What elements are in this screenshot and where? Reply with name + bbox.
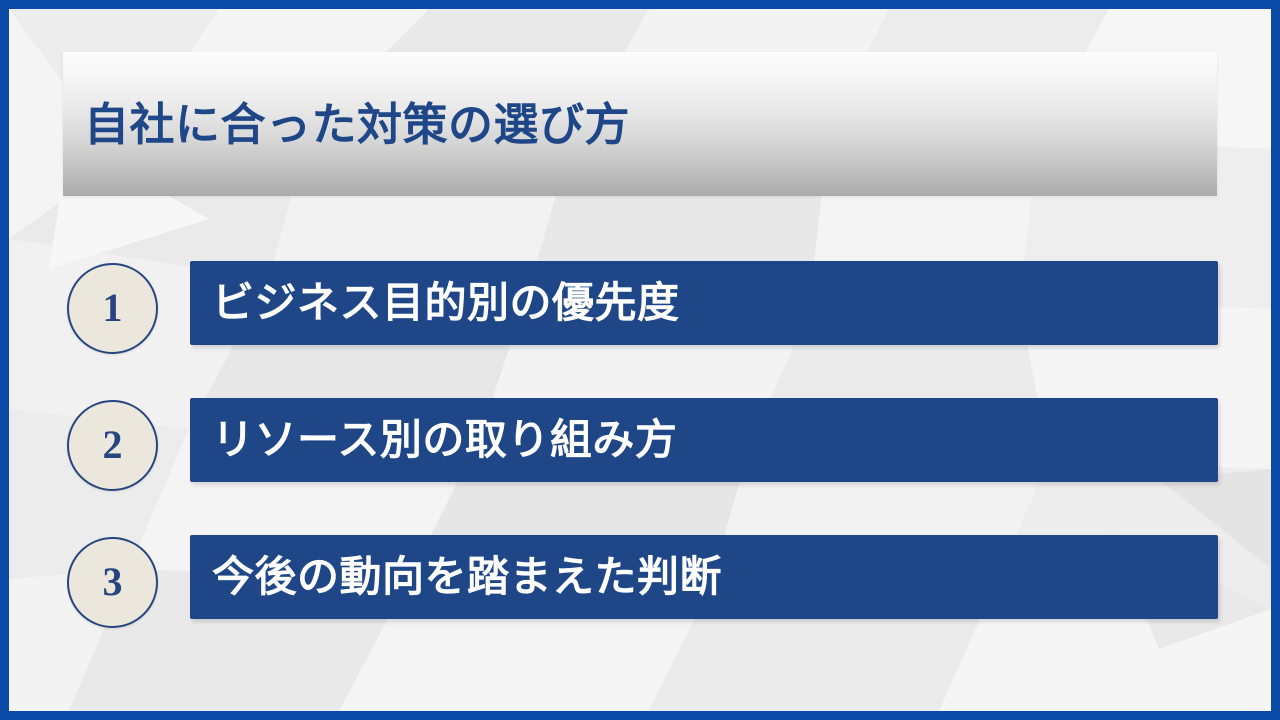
item-number-badge: 3 xyxy=(67,537,158,628)
item-label: リソース別の取り組み方 xyxy=(212,419,677,461)
list-item[interactable]: 3 今後の動向を踏まえた判断 xyxy=(9,526,1271,621)
page-title: 自社に合った対策の選び方 xyxy=(84,102,630,147)
item-number-label: 2 xyxy=(103,425,123,467)
item-number-label: 3 xyxy=(103,562,123,604)
item-number-label: 1 xyxy=(103,288,123,330)
item-label-bar[interactable]: ビジネス目的別の優先度 xyxy=(190,261,1218,345)
item-label: ビジネス目的別の優先度 xyxy=(212,282,680,324)
list-item[interactable]: 1 ビジネス目的別の優先度 xyxy=(9,252,1271,347)
slide-title-bar: 自社に合った対策の選び方 xyxy=(63,52,1217,196)
list-item[interactable]: 2 リソース別の取り組み方 xyxy=(9,389,1271,484)
item-number-badge: 1 xyxy=(67,263,158,354)
item-label-bar[interactable]: リソース別の取り組み方 xyxy=(190,398,1218,482)
item-number-badge: 2 xyxy=(67,400,158,491)
presentation-slide: 自社に合った対策の選び方 1 ビジネス目的別の優先度 2 リソース別の取り組み方 xyxy=(0,0,1280,720)
item-label: 今後の動向を踏まえた判断 xyxy=(212,556,722,598)
item-label-bar[interactable]: 今後の動向を踏まえた判断 xyxy=(190,535,1218,619)
slide-canvas: 自社に合った対策の選び方 1 ビジネス目的別の優先度 2 リソース別の取り組み方 xyxy=(9,9,1271,711)
